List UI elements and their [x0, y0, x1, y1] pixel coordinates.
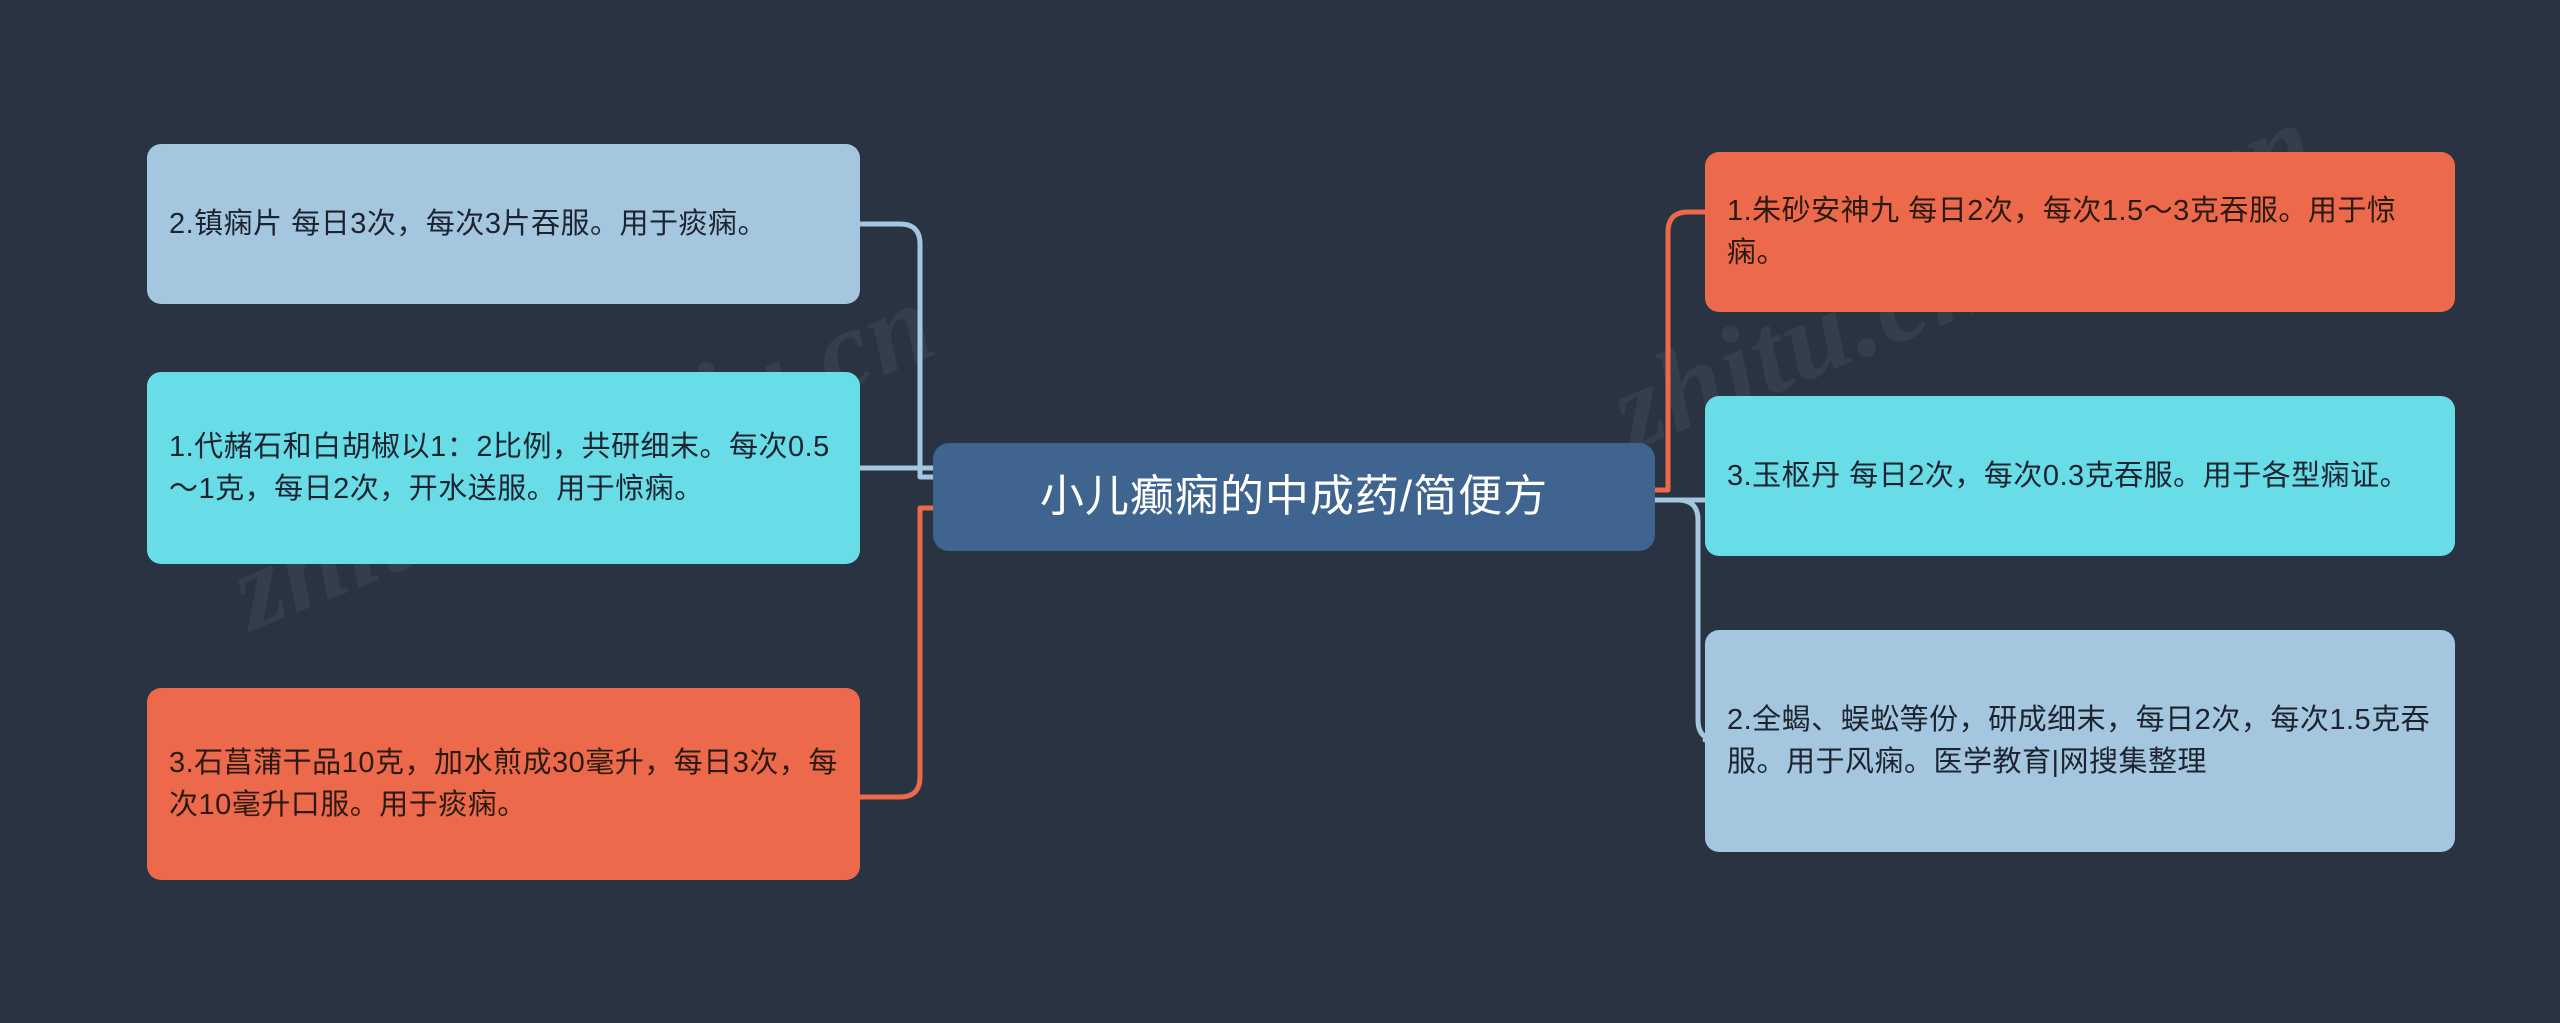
node-left-bottom[interactable]: 3.石菖蒲干品10克，加水煎成30毫升，每日3次，每次10毫升口服。用于痰痫。 [147, 688, 860, 880]
connector-left-top [860, 224, 933, 477]
node-right-mid-label: 3.玉枢丹 每日2次，每次0.3克吞服。用于各型痫证。 [1705, 455, 2455, 497]
node-right-bottom[interactable]: 2.全蝎、蜈蚣等份，研成细末，每日2次，每次1.5克吞服。用于风痫。医学教育|网… [1705, 630, 2455, 852]
node-right-mid[interactable]: 3.玉枢丹 每日2次，每次0.3克吞服。用于各型痫证。 [1705, 396, 2455, 556]
connector-left-bottom [860, 508, 933, 797]
node-right-top-label: 1.朱砂安神九 每日2次，每次1.5～3克吞服。用于惊痫。 [1705, 190, 2455, 274]
node-left-top[interactable]: 2.镇痫片 每日3次，每次3片吞服。用于痰痫。 [147, 144, 860, 304]
node-left-top-label: 2.镇痫片 每日3次，每次3片吞服。用于痰痫。 [147, 203, 860, 245]
node-right-top[interactable]: 1.朱砂安神九 每日2次，每次1.5～3克吞服。用于惊痫。 [1705, 152, 2455, 312]
node-left-mid-label: 1.代赭石和白胡椒以1：2比例，共研细末。每次0.5～1克，每日2次，开水送服。… [147, 426, 860, 510]
node-left-bottom-label: 3.石菖蒲干品10克，加水煎成30毫升，每日3次，每次10毫升口服。用于痰痫。 [147, 742, 860, 826]
root-node[interactable]: 小儿癫痫的中成药/简便方 [933, 443, 1655, 551]
node-right-bottom-label: 2.全蝎、蜈蚣等份，研成细末，每日2次，每次1.5克吞服。用于风痫。医学教育|网… [1705, 699, 2455, 783]
root-node-label: 小儿癫痫的中成药/简便方 [933, 465, 1655, 529]
mindmap-canvas: zhitu.chuliu.cn zhitu.chuliu.cn 2.镇痫片 每日… [0, 0, 2560, 1023]
connector-right-top [1655, 212, 1705, 490]
node-left-mid[interactable]: 1.代赭石和白胡椒以1：2比例，共研细末。每次0.5～1克，每日2次，开水送服。… [147, 372, 860, 564]
